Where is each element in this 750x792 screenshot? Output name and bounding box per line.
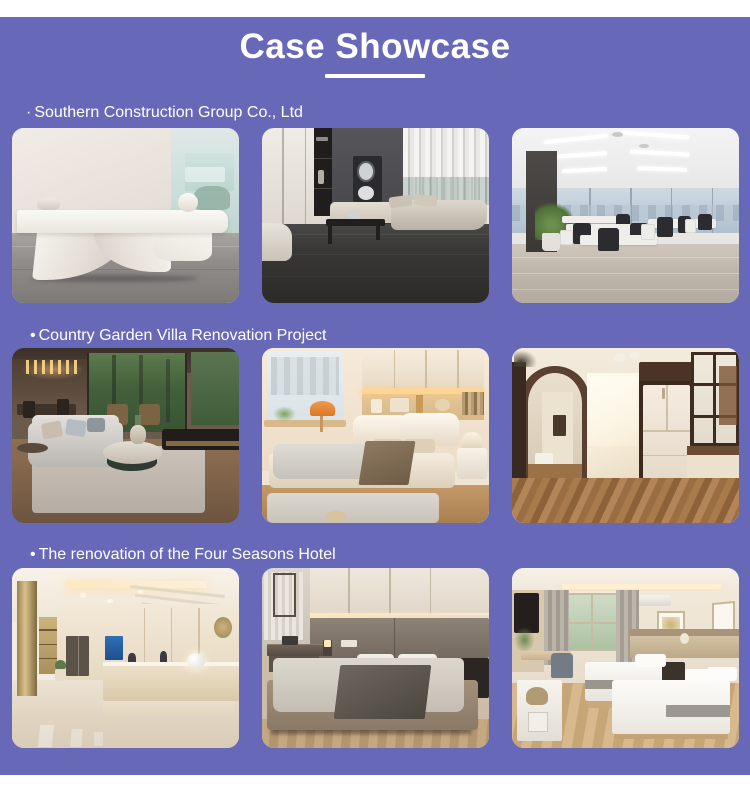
scene-open-plan-office bbox=[512, 128, 739, 303]
image-card-open-plan-office[interactable] bbox=[512, 128, 739, 303]
section-heading-2: •Country Garden Villa Renovation Project bbox=[30, 326, 326, 346]
scene-hotel-twin-room bbox=[512, 568, 739, 748]
section-heading-1: ·Southern Construction Group Co., Ltd bbox=[26, 103, 303, 123]
image-row-3 bbox=[12, 568, 739, 748]
scene-hotel-suite-platform-bed bbox=[262, 568, 489, 748]
scene-hotel-lobby-reception bbox=[12, 568, 239, 748]
scene-cream-bedroom bbox=[262, 348, 489, 523]
image-card-hotel-lobby-reception[interactable] bbox=[12, 568, 239, 748]
scene-entry-hallway-kitchen bbox=[512, 348, 739, 523]
image-card-cream-bedroom[interactable] bbox=[262, 348, 489, 523]
image-row-2 bbox=[12, 348, 739, 523]
page-title-block: Case Showcase bbox=[0, 26, 750, 68]
section-label-2: Country Garden Villa Renovation Project bbox=[39, 327, 327, 344]
section-label-1: Southern Construction Group Co., Ltd bbox=[34, 104, 303, 121]
scene-villa-living-room bbox=[12, 348, 239, 523]
section-bullet-icon: · bbox=[26, 103, 31, 123]
image-card-villa-living-room[interactable] bbox=[12, 348, 239, 523]
image-card-hotel-twin-room[interactable] bbox=[512, 568, 739, 748]
case-showcase-page: Case Showcase ·Southern Construction Gro… bbox=[0, 0, 750, 792]
image-row-1 bbox=[12, 128, 739, 303]
section-bullet-icon: • bbox=[30, 545, 36, 565]
scene-modern-living-area bbox=[262, 128, 489, 303]
image-card-reception-desk-lobby[interactable] bbox=[12, 128, 239, 303]
page-title: Case Showcase bbox=[239, 26, 510, 68]
section-bullet-icon: • bbox=[30, 326, 36, 346]
image-card-entry-hallway-kitchen[interactable] bbox=[512, 348, 739, 523]
scene-reception-desk-lobby bbox=[12, 128, 239, 303]
title-underline bbox=[325, 74, 425, 78]
image-card-hotel-suite-platform-bed[interactable] bbox=[262, 568, 489, 748]
image-card-modern-living-area[interactable] bbox=[262, 128, 489, 303]
section-label-3: The renovation of the Four Seasons Hotel bbox=[39, 546, 336, 563]
section-heading-3: •The renovation of the Four Seasons Hote… bbox=[30, 545, 336, 565]
